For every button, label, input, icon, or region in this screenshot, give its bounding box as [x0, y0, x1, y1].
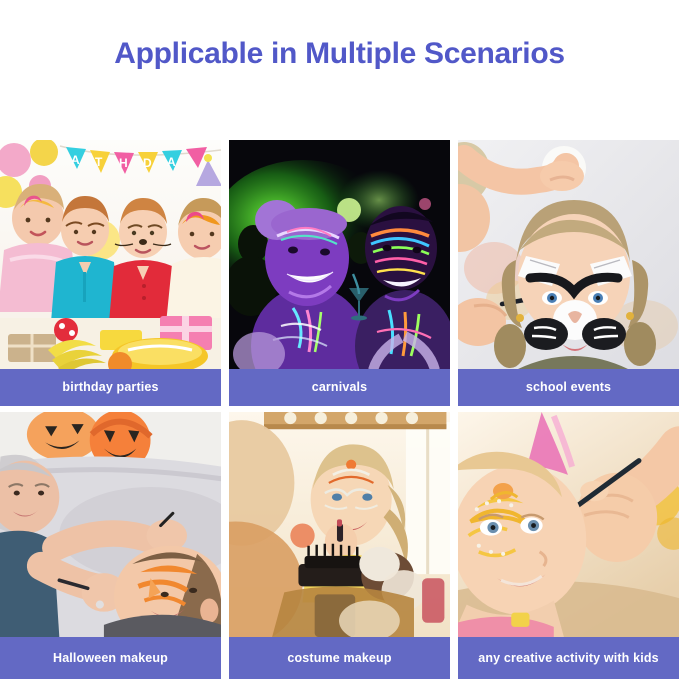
photo-costume-makeup — [229, 412, 450, 637]
svg-text:A: A — [71, 153, 80, 167]
svg-text:A: A — [167, 155, 176, 169]
photo-creative-activity — [458, 412, 679, 637]
carnival-uv-paint-photo-illustration — [229, 140, 450, 369]
card-caption-creative-activity: any creative activity with kids — [458, 637, 679, 679]
card-caption-costume-makeup: costume makeup — [229, 637, 450, 679]
photo-school-events — [458, 140, 679, 369]
scenario-card-costume-makeup[interactable]: costume makeup — [229, 412, 450, 679]
svg-text:D: D — [143, 156, 152, 170]
photo-birthday-parties: AT HDA — [0, 140, 221, 369]
birthday-party-photo-illustration: AT HDA — [0, 140, 221, 369]
card-caption-halloween-makeup: Halloween makeup — [0, 637, 221, 679]
svg-text:H: H — [119, 156, 128, 170]
scenario-grid: AT HDA — [0, 140, 679, 679]
scenario-card-halloween-makeup[interactable]: Halloween makeup — [0, 412, 221, 679]
page-header: Applicable in Multiple Scenarios — [0, 0, 679, 140]
page-title: Applicable in Multiple Scenarios — [114, 37, 565, 104]
card-caption-carnivals: carnivals — [229, 369, 450, 406]
card-caption-birthday-parties: birthday parties — [0, 369, 221, 406]
creative-activity-face-painting-photo-illustration — [458, 412, 679, 637]
svg-text:T: T — [95, 155, 103, 169]
card-caption-school-events: school events — [458, 369, 679, 406]
scenario-card-carnivals[interactable]: carnivals — [229, 140, 450, 406]
scenario-card-birthday-parties[interactable]: AT HDA — [0, 140, 221, 406]
photo-carnivals — [229, 140, 450, 369]
halloween-face-painting-photo-illustration — [0, 412, 221, 637]
photo-halloween-makeup — [0, 412, 221, 637]
scenario-infographic-page: Applicable in Multiple Scenarios — [0, 0, 679, 679]
scenario-card-school-events[interactable]: school events — [458, 140, 679, 406]
costume-makeup-photo-illustration — [229, 412, 450, 637]
scenario-card-creative-activity[interactable]: any creative activity with kids — [458, 412, 679, 679]
school-event-face-painting-photo-illustration — [458, 140, 679, 369]
